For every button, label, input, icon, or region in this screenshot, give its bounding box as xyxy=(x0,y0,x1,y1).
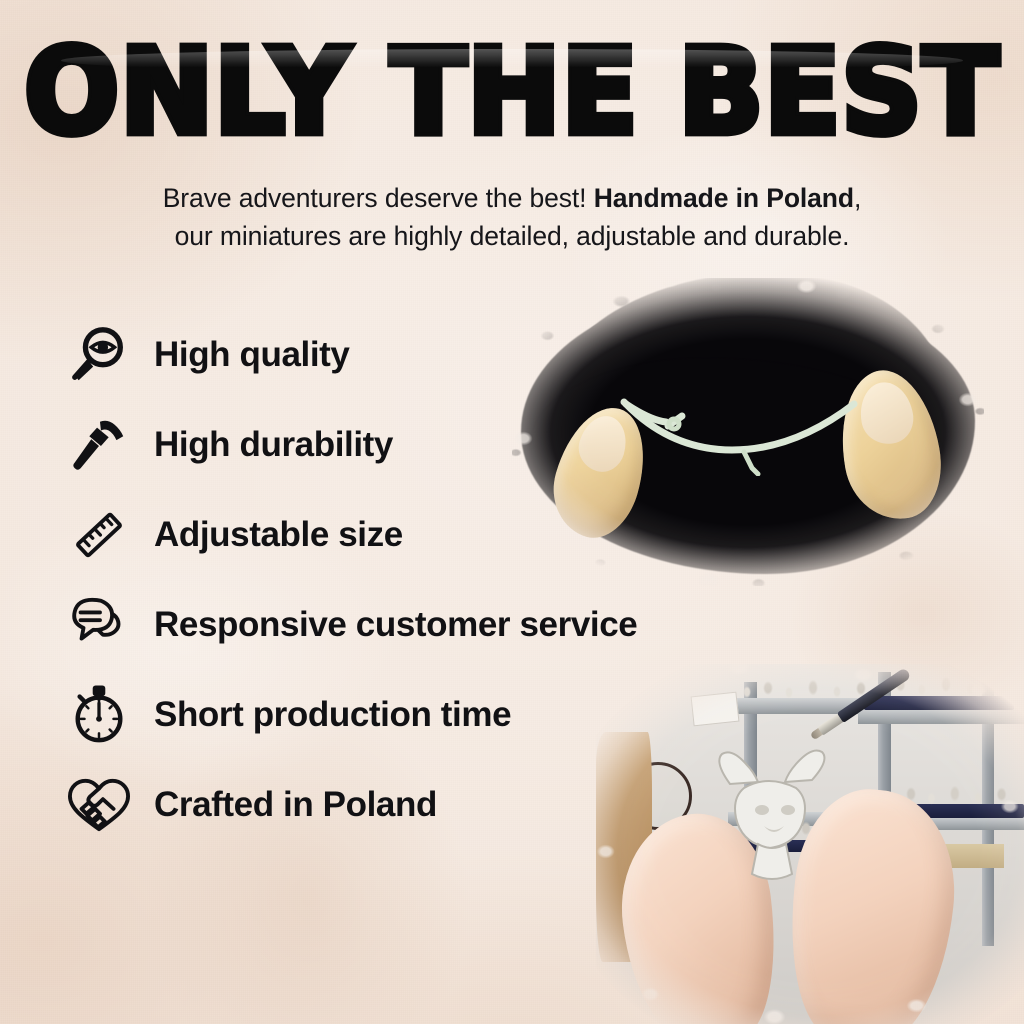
feature-item-responsive-customer-service: Responsive customer service xyxy=(62,580,762,670)
headline-container: ONLY THE BEST xyxy=(0,34,1024,139)
flexible-miniature-photo-inner xyxy=(512,278,984,586)
feature-label: High quality xyxy=(154,335,349,375)
heart-handshake-icon xyxy=(62,768,136,842)
feature-label: Crafted in Poland xyxy=(154,785,437,825)
magnifier-eye-icon xyxy=(62,318,136,392)
subtitle-emphasis: Handmade in Poland xyxy=(594,183,854,213)
shelf-board-upper-right xyxy=(858,708,1024,724)
stopwatch-icon xyxy=(62,678,136,752)
promo-poster: ONLY THE BEST Brave adventurers deserve … xyxy=(0,0,1024,1024)
workshop-photo-inner xyxy=(596,664,1024,1024)
page-title: ONLY THE BEST xyxy=(24,34,999,152)
bent-miniature-part xyxy=(616,396,862,476)
subtitle-line-2: our miniatures are highly detailed, adju… xyxy=(175,221,850,251)
shelf-label-tag xyxy=(691,692,740,727)
feature-label: Adjustable size xyxy=(154,515,403,555)
feature-label: High durability xyxy=(154,425,393,465)
workshop-painting-photo xyxy=(596,664,1024,1024)
feature-label: Short production time xyxy=(154,695,511,735)
subtitle-tail: , xyxy=(854,183,861,213)
subtitle: Brave adventurers deserve the best! Hand… xyxy=(82,180,942,255)
fingernail-right xyxy=(855,378,917,448)
speech-bubbles-icon xyxy=(62,588,136,662)
hammer-icon xyxy=(62,408,136,482)
subtitle-lead: Brave adventurers deserve the best! xyxy=(163,183,594,213)
ruler-icon xyxy=(62,498,136,572)
miniature-tray-upper xyxy=(864,696,1014,710)
feature-label: Responsive customer service xyxy=(154,605,637,645)
flexible-miniature-photo xyxy=(512,278,984,586)
